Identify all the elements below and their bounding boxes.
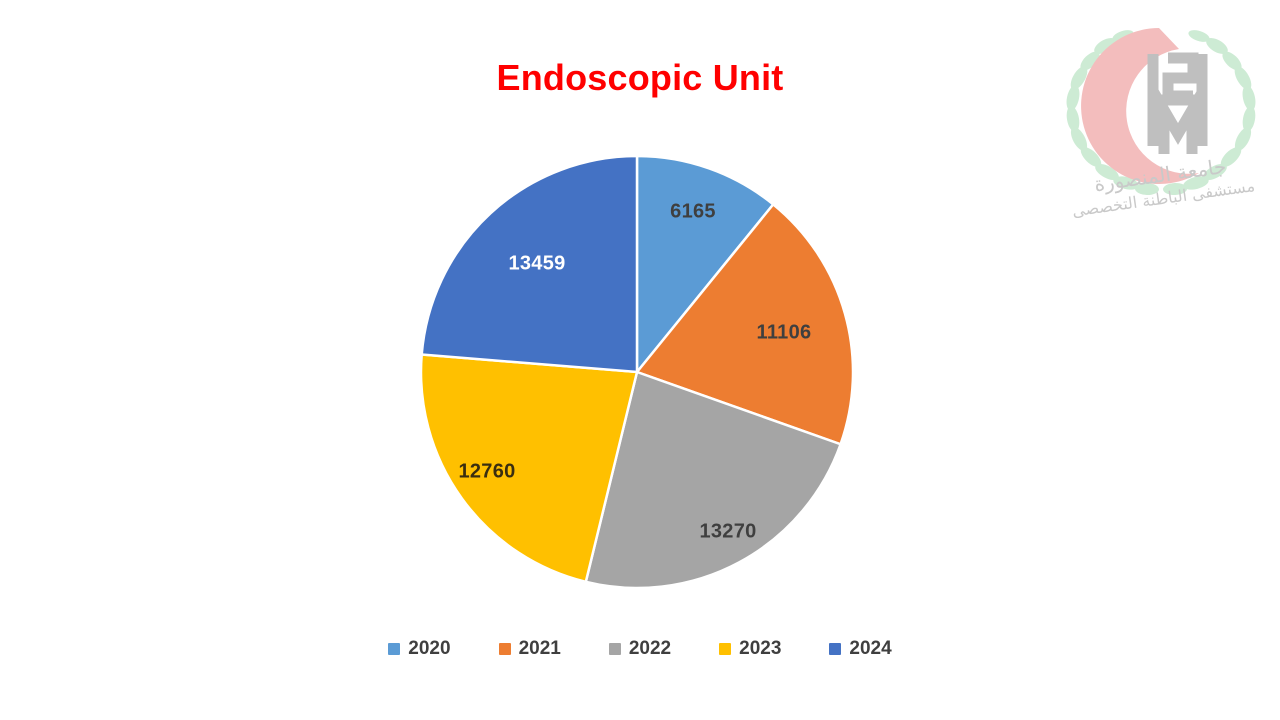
legend-item-2022[interactable]: 2022 [609,639,671,658]
legend-item-2021[interactable]: 2021 [499,639,561,658]
laurel-wreath-icon [1064,28,1257,196]
pie-chart-svg [420,155,854,589]
legend-swatch-2021 [499,643,511,655]
legend-label-2021: 2021 [519,639,561,658]
legend-label-2020: 2020 [408,639,450,658]
legend-label-2022: 2022 [629,639,671,658]
svg-text:جامعة المنصورة: جامعة المنصورة [1093,154,1228,196]
svg-text:مستشفى الباطنة التخصصى: مستشفى الباطنة التخصصى [1071,176,1256,220]
pie-slice-label-2020: 6165 [670,201,716,224]
legend-swatch-2020 [388,643,400,655]
pie-chart: 6165 11106 13270 12760 13459 [420,155,854,589]
legend-item-2024[interactable]: 2024 [829,639,891,658]
legend-swatch-2023 [719,643,731,655]
legend-swatch-2022 [609,643,621,655]
chart-legend: 20202021202220232024 [0,639,1280,658]
hospital-logo-watermark: جامعة المنصورة مستشفى الباطنة التخصصى [1056,6,1266,221]
legend-item-2023[interactable]: 2023 [719,639,781,658]
pie-slice-label-2023: 12760 [458,461,515,484]
legend-label-2023: 2023 [739,639,781,658]
pie-slices [421,156,853,588]
pie-slice-label-2021: 11106 [757,322,812,345]
legend-label-2024: 2024 [849,639,891,658]
legend-swatch-2024 [829,643,841,655]
pie-slice-label-2024: 13459 [508,253,565,276]
logo-arabic-text: جامعة المنصورة مستشفى الباطنة التخصصى [1067,150,1256,220]
pie-slice-label-2022: 13270 [699,521,756,544]
crescent-icon [1081,28,1199,184]
slide-canvas: Endoscopic Unit [0,0,1280,720]
legend-item-2020[interactable]: 2020 [388,639,450,658]
chart-title: Endoscopic Unit [0,58,1280,98]
